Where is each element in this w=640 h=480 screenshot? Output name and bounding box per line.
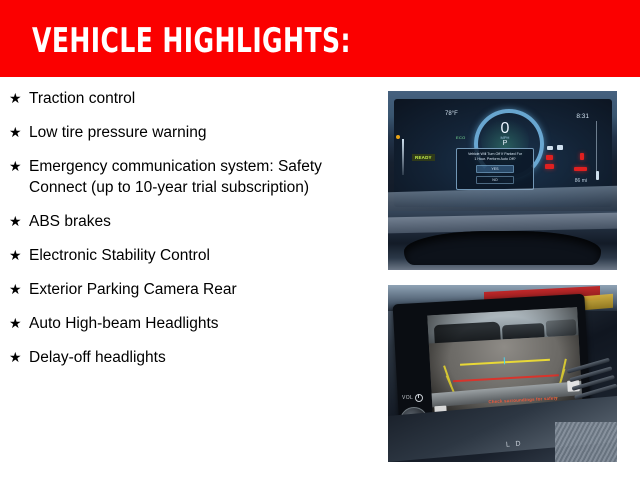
list-item: ★ Auto High-beam Headlights: [0, 313, 372, 334]
instrument-cluster-artwork: 0 MPH P ECO READY 78°F 8:31 86 mi Vehicl…: [388, 91, 617, 270]
seat-upholstery: [555, 422, 617, 462]
list-item: ★ Exterior Parking Camera Rear: [0, 279, 372, 300]
list-item-label: Traction control: [29, 88, 372, 109]
star-bullet-icon: ★: [9, 279, 22, 300]
brake-warning-icon: [546, 155, 553, 160]
list-item-label: Exterior Parking Camera Rear: [29, 279, 372, 300]
power-icon[interactable]: [415, 394, 423, 402]
speed-readout: 0: [484, 121, 526, 136]
dialog-no-option: NO: [476, 176, 514, 184]
list-item-label: ABS brakes: [29, 211, 372, 232]
left-gauge-bar: [402, 139, 404, 175]
dialog-line-2: 1 Hour. Perform Auto Off?: [459, 157, 531, 162]
list-item-label: Emergency communication system: Safety C…: [29, 156, 372, 198]
steering-column-well: [404, 231, 601, 265]
list-item: ★ Electronic Stability Control: [0, 245, 372, 266]
star-bullet-icon: ★: [9, 156, 22, 177]
backup-camera-artwork: Check surroundings for safety VOL L D: [388, 285, 617, 462]
list-item-label: Electronic Stability Control: [29, 245, 372, 266]
headlight-telltale-icon: [547, 146, 553, 150]
star-bullet-icon: ★: [9, 245, 22, 266]
shifter-position-label: L D: [506, 440, 523, 448]
fuel-gauge-scale: [596, 121, 605, 177]
star-bullet-icon: ★: [9, 347, 22, 368]
star-bullet-icon: ★: [9, 313, 22, 334]
header-banner: VEHICLE HIGHLIGHTS:: [0, 0, 640, 77]
system-warning-icon: [574, 167, 587, 171]
list-item: ★ Traction control: [0, 88, 372, 109]
photo-instrument-cluster: 0 MPH P ECO READY 78°F 8:31 86 mi Vehicl…: [388, 91, 617, 270]
outside-temp-readout: 78°F: [445, 111, 458, 117]
list-item-label: Low tire pressure warning: [29, 122, 372, 143]
star-bullet-icon: ★: [9, 88, 22, 109]
odometer-readout: 86 mi: [575, 178, 587, 184]
eco-indicator: ECO: [456, 135, 466, 140]
ready-indicator: READY: [412, 154, 435, 161]
list-item: ★ Emergency communication system: Safety…: [0, 156, 372, 198]
cluster-dialog-box: Vehicle Will Turn Off If Parked For 1 Ho…: [456, 148, 534, 190]
clock-readout: 8:31: [576, 113, 589, 120]
airbag-warning-icon: [580, 153, 584, 160]
page-title: VEHICLE HIGHLIGHTS:: [32, 23, 351, 59]
seatbelt-telltale-icon: [557, 145, 563, 150]
tire-pressure-warning-icon: [545, 164, 554, 169]
yellow-vehicle-reflection: [583, 294, 613, 311]
list-item-label: Auto High-beam Headlights: [29, 313, 372, 334]
volume-label: VOL: [402, 395, 413, 401]
photo-backup-camera: Check surroundings for safety VOL L D: [388, 285, 617, 462]
star-bullet-icon: ★: [9, 122, 22, 143]
star-bullet-icon: ★: [9, 211, 22, 232]
list-item: ★ Delay-off headlights: [0, 347, 372, 368]
vehicle-highlights-list: ★ Traction control ★ Low tire pressure w…: [0, 88, 372, 381]
list-item-label: Delay-off headlights: [29, 347, 372, 368]
list-item: ★ Low tire pressure warning: [0, 122, 372, 143]
gear-indicator: P: [484, 140, 526, 147]
list-item: ★ ABS brakes: [0, 211, 372, 232]
fuel-level-indicator-icon: [596, 171, 599, 180]
dialog-yes-option: YES: [476, 165, 514, 173]
left-gauge-marker-icon: [396, 135, 400, 139]
